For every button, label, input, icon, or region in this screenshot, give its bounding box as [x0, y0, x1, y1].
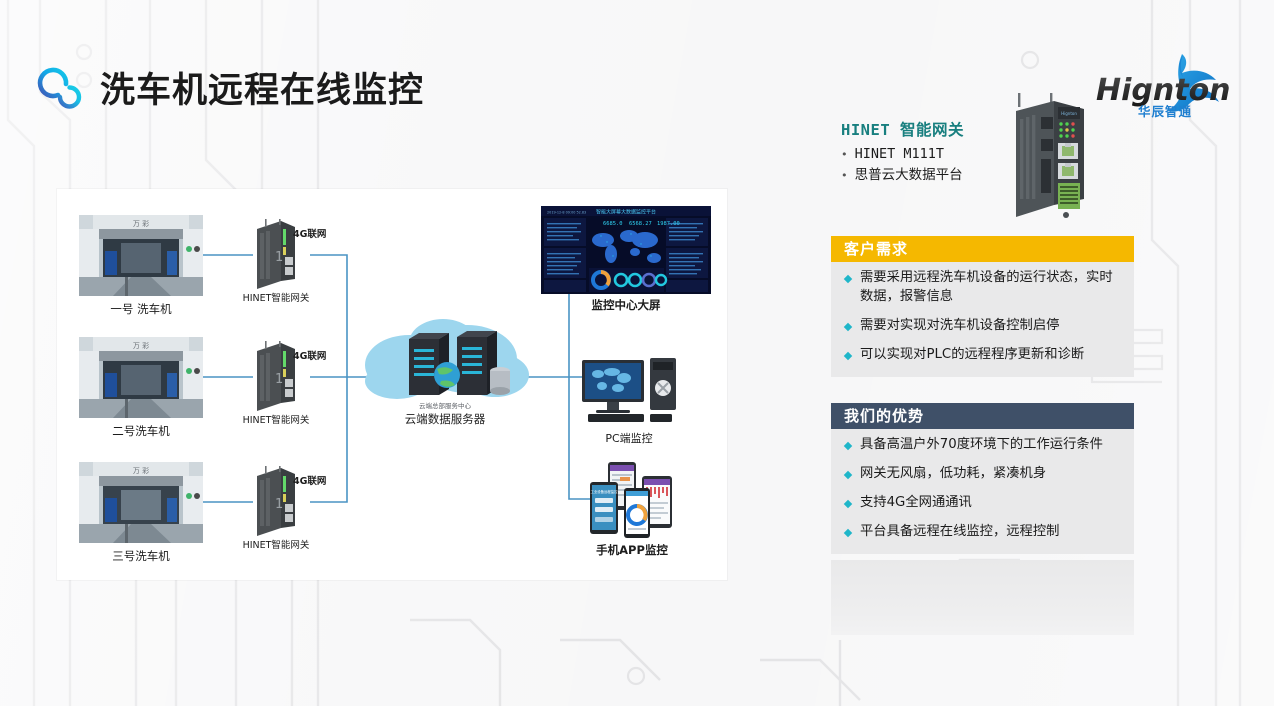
led-indicators — [1059, 122, 1074, 137]
washer-photo-3: 万 彩 — [79, 462, 203, 543]
link-label-3: 4G联网 — [293, 473, 326, 487]
panel-our-advantages-title: 我们的优势 — [831, 403, 1134, 429]
globe-icon — [434, 362, 460, 388]
hinet-item-1-text: 思普云大数据平台 — [855, 165, 963, 186]
link-label-2: 4G联网 — [293, 348, 326, 362]
washer-photo-1: 万 彩 — [79, 215, 203, 296]
gateway-label-3: HINET智能网关 — [239, 537, 313, 551]
brand-name-text: Hignton — [1096, 73, 1231, 108]
page-title: 洗车机远程在线监控 — [100, 62, 424, 113]
hinet-item-0-text: HINET M111T — [855, 144, 944, 165]
endpoint-caption-pc: PC端监控 — [574, 430, 684, 446]
big-screen-dashboard-icon: 智能大屏幕大数据监控平台 2019-12-8 09:00 52.83 — [541, 206, 711, 294]
endpoint-caption-screen: 监控中心大屏 — [541, 297, 711, 313]
panel-customer-needs-title: 客户需求 — [831, 236, 1134, 262]
phone-front-center — [624, 488, 650, 538]
svg-text:1: 1 — [275, 372, 283, 387]
washer-caption-1: 一号 洗车机 — [79, 301, 203, 317]
phone-front-left: 工业设备远程监控 — [590, 482, 618, 534]
bullet-text: 具备高温户外70度环境下的工作运行条件 — [860, 436, 1103, 455]
bullet-item: 支持4G全网通通讯 — [845, 494, 1118, 513]
svg-text:6568.27: 6568.27 — [629, 221, 652, 227]
svg-text:工业设备远程监控: 工业设备远程监控 — [590, 489, 618, 494]
desktop-computer-icon — [574, 356, 684, 428]
diamond-bullet-icon — [844, 442, 852, 450]
bullet-item: 需要采用远程洗车机设备的运行状态，实时数据，报警信息 — [845, 269, 1118, 307]
diamond-bullet-icon — [844, 323, 852, 331]
bullet-text: 支持4G全网通通讯 — [860, 494, 972, 513]
washer-caption-3: 三号洗车机 — [79, 548, 203, 564]
industrial-gateway-device-image: Hignton — [1008, 93, 1094, 223]
cloud-inner-label: 云端总部服务中心 — [419, 401, 472, 410]
bullet-dot-icon: • — [841, 149, 848, 160]
svg-text:万 彩: 万 彩 — [133, 466, 149, 475]
brand-logo: Hignton 华辰智通 — [1090, 48, 1240, 124]
svg-text:1987.00: 1987.00 — [657, 221, 680, 227]
architecture-diagram-card: 万 彩 一号 洗车机 1 4G联网 HINET智能网关 — [57, 189, 727, 580]
bullet-item: 需要对实现对洗车机设备控制启停 — [845, 317, 1118, 336]
svg-text:智能大屏幕大数据监控平台: 智能大屏幕大数据监控平台 — [596, 208, 656, 215]
diamond-bullet-icon — [844, 500, 852, 508]
svg-text:6685.0: 6685.0 — [603, 221, 622, 227]
ethernet-port-1 — [1058, 143, 1078, 159]
bullet-item: 网关无风扇，低功耗，紧凑机身 — [845, 465, 1118, 484]
bullet-text: 平台具备远程在线监控，远程控制 — [860, 523, 1059, 542]
diamond-bullet-icon — [844, 528, 852, 536]
panel-customer-needs-body: 需要采用远程洗车机设备的运行状态，实时数据，报警信息 需要对实现对洗车机设备控制… — [831, 262, 1134, 377]
bullet-text: 可以实现对PLC的远程程序更新和诊断 — [860, 346, 1084, 365]
panel-our-advantages-body: 具备高温户外70度环境下的工作运行条件 网关无风扇，低功耗，紧凑机身 支持4G全… — [831, 429, 1134, 554]
two-circles-logo-icon — [36, 64, 88, 114]
svg-text:1: 1 — [275, 250, 283, 265]
gateway-label-2: HINET智能网关 — [239, 412, 313, 426]
terminal-block — [1058, 183, 1080, 209]
panel-bottom-filler — [831, 560, 1134, 635]
link-label-1: 4G联网 — [293, 226, 326, 240]
ethernet-port-2 — [1058, 163, 1078, 179]
bullet-text: 网关无风扇，低功耗，紧凑机身 — [860, 465, 1046, 484]
panel-our-advantages: 我们的优势 具备高温户外70度环境下的工作运行条件 网关无风扇，低功耗，紧凑机身… — [831, 403, 1134, 554]
washer-photo-2: 万 彩 — [79, 337, 203, 418]
diamond-bullet-icon — [844, 471, 852, 479]
bullet-text: 需要采用远程洗车机设备的运行状态，实时数据，报警信息 — [860, 269, 1118, 307]
bullet-dot-icon: • — [841, 170, 848, 181]
bullet-item: 可以实现对PLC的远程程序更新和诊断 — [845, 346, 1118, 365]
svg-text:Hignton: Hignton — [1061, 111, 1077, 116]
svg-text:2019-12-8 09:00 52.83: 2019-12-8 09:00 52.83 — [547, 210, 586, 214]
page-header: 洗车机远程在线监控 Hignton 华辰智通 — [0, 24, 1274, 104]
panel-customer-needs: 客户需求 需要采用远程洗车机设备的运行状态，实时数据，报警信息 需要对实现对洗车… — [831, 236, 1134, 377]
svg-text:万 彩: 万 彩 — [133, 219, 149, 228]
database-cylinder-icon — [490, 367, 510, 395]
cloud-caption: 云端数据服务器 — [357, 411, 533, 427]
svg-text:万 彩: 万 彩 — [133, 341, 149, 350]
cloud-servers-icon: 云端总部服务中心 — [357, 309, 533, 421]
bullet-item: 具备高温户外70度环境下的工作运行条件 — [845, 436, 1118, 455]
smartphones-icon: 工业设备远程监控 — [580, 462, 684, 540]
diamond-bullet-icon — [844, 275, 852, 283]
svg-text:1: 1 — [275, 497, 283, 512]
bullet-item: 平台具备远程在线监控，远程控制 — [845, 523, 1118, 542]
endpoint-caption-app: 手机APP监控 — [574, 542, 690, 558]
washer-caption-2: 二号洗车机 — [79, 423, 203, 439]
diamond-bullet-icon — [844, 351, 852, 359]
gateway-label-1: HINET智能网关 — [239, 290, 313, 304]
bullet-text: 需要对实现对洗车机设备控制启停 — [860, 317, 1059, 336]
brand-sub-text: 华辰智通 — [1138, 104, 1192, 119]
